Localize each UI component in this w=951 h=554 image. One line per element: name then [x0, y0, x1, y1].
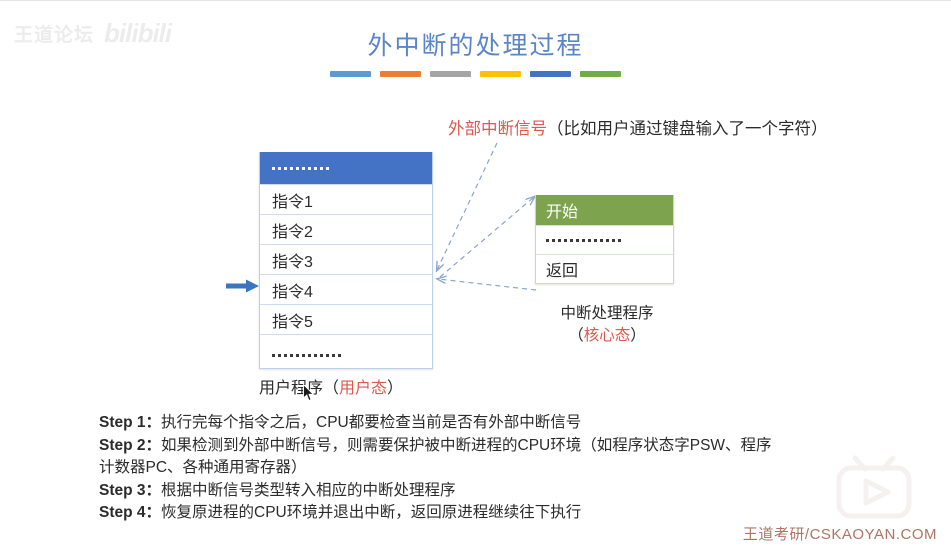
- table-row: 返回: [536, 254, 673, 283]
- user-program-caption-main: 用户程序（: [259, 380, 339, 397]
- paren-close: ）: [630, 327, 646, 344]
- interrupt-handler-return-label: 返回: [546, 257, 578, 281]
- step-item: Step 4：恢复原进程的CPU环境并退出中断，返回原进程继续往下执行: [99, 502, 899, 525]
- step-text: 执行完每个指令之后，CPU都要检查当前是否有外部中断信号: [161, 414, 581, 431]
- step-label: Step 3：: [99, 480, 161, 503]
- rule-segment-2: [380, 71, 421, 77]
- top-hairline: [0, 0, 951, 1]
- step-text: 恢复原进程的CPU环境并退出中断，返回原进程继续往下执行: [161, 504, 581, 521]
- current-instruction-pointer-icon: [226, 279, 260, 293]
- step-label: Step 2：: [99, 435, 161, 458]
- interrupt-handler-start-label: 开始: [546, 198, 578, 222]
- page-title: 外中断的处理过程: [0, 26, 951, 62]
- instruction-label: 指令2: [272, 218, 313, 242]
- user-mode-label: 用户态: [339, 380, 387, 397]
- step-label: Step 1：: [99, 412, 161, 435]
- rule-segment-4: [480, 71, 521, 77]
- step-text: 根据中断信号类型转入相应的中断处理程序: [161, 482, 456, 499]
- user-program-caption: 用户程序（用户态）: [259, 374, 459, 398]
- table-row-ellipsis: [536, 225, 673, 254]
- step-item: Step 1：执行完每个指令之后，CPU都要检查当前是否有外部中断信号: [99, 412, 899, 435]
- bilibili-tv-logo-icon: [833, 454, 915, 520]
- step-item: Step 3：根据中断信号类型转入相应的中断处理程序: [99, 480, 899, 503]
- instruction-label: 指令1: [272, 188, 313, 212]
- table-row-ellipsis: [260, 334, 432, 368]
- interrupt-handler-table: 开始 返回: [535, 195, 674, 284]
- rule-segment-6: [580, 71, 621, 77]
- table-row: 指令5: [260, 304, 432, 334]
- footer-dots-icon: [272, 354, 341, 357]
- table-row: 指令3: [260, 244, 432, 274]
- handler-dots-icon: [546, 239, 621, 242]
- step-label: Step 4：: [99, 502, 161, 525]
- instruction-label: 指令3: [272, 248, 313, 272]
- external-interrupt-caption: 外部中断信号（比如用户通过键盘输入了一个字符）: [448, 115, 828, 139]
- interrupt-handler-caption: 中断处理程序 （核心态）: [527, 303, 687, 347]
- instruction-label: 指令5: [272, 308, 313, 332]
- step-item: Step 2：如果检测到外部中断信号，则需要保护被中断进程的CPU环境（如程序状…: [99, 435, 899, 458]
- external-interrupt-note: （比如用户通过键盘输入了一个字符）: [547, 120, 828, 138]
- header-dots-icon: [272, 167, 329, 170]
- user-program-caption-tail: ）: [387, 380, 403, 397]
- arrow-signal-to-instruction: [437, 143, 497, 270]
- slide-canvas: 王道论坛 bilibili 外中断的处理过程 外部中断信号（比如用户通过键盘输入…: [0, 0, 951, 554]
- mouse-cursor-icon: [303, 384, 315, 402]
- table-row: 指令2: [260, 214, 432, 244]
- paren-open: （: [568, 327, 584, 344]
- watermark-bottom-right: 王道考研/CSKAOYAN.COM: [743, 523, 937, 544]
- table-row: 指令1: [260, 184, 432, 214]
- kernel-mode-label: 核心态: [584, 327, 631, 344]
- arrow-handler-return-to-instruction: [438, 279, 536, 290]
- rule-segment-1: [330, 71, 371, 77]
- step-continuation: 计数器PC、各种通用寄存器）: [99, 457, 899, 480]
- step-text: 如果检测到外部中断信号，则需要保护被中断进程的CPU环境（如程序状态字PSW、程…: [161, 437, 772, 454]
- interrupt-handler-caption-line2: （核心态）: [527, 325, 687, 347]
- interrupt-handler-header-row: 开始: [536, 195, 673, 225]
- external-interrupt-label: 外部中断信号: [448, 120, 547, 138]
- interrupt-handler-caption-line1: 中断处理程序: [527, 303, 687, 325]
- steps-list: Step 1：执行完每个指令之后，CPU都要检查当前是否有外部中断信号 Step…: [99, 412, 899, 525]
- rule-segment-5: [530, 71, 571, 77]
- arrow-instruction-to-handler: [440, 197, 534, 277]
- title-rule: [0, 71, 951, 77]
- rule-segment-3: [430, 71, 471, 77]
- instruction-label: 指令4: [272, 278, 313, 302]
- table-row: 指令4: [260, 274, 432, 304]
- user-program-table: 指令1 指令2 指令3 指令4 指令5: [259, 152, 433, 369]
- user-program-header-row: [260, 152, 432, 184]
